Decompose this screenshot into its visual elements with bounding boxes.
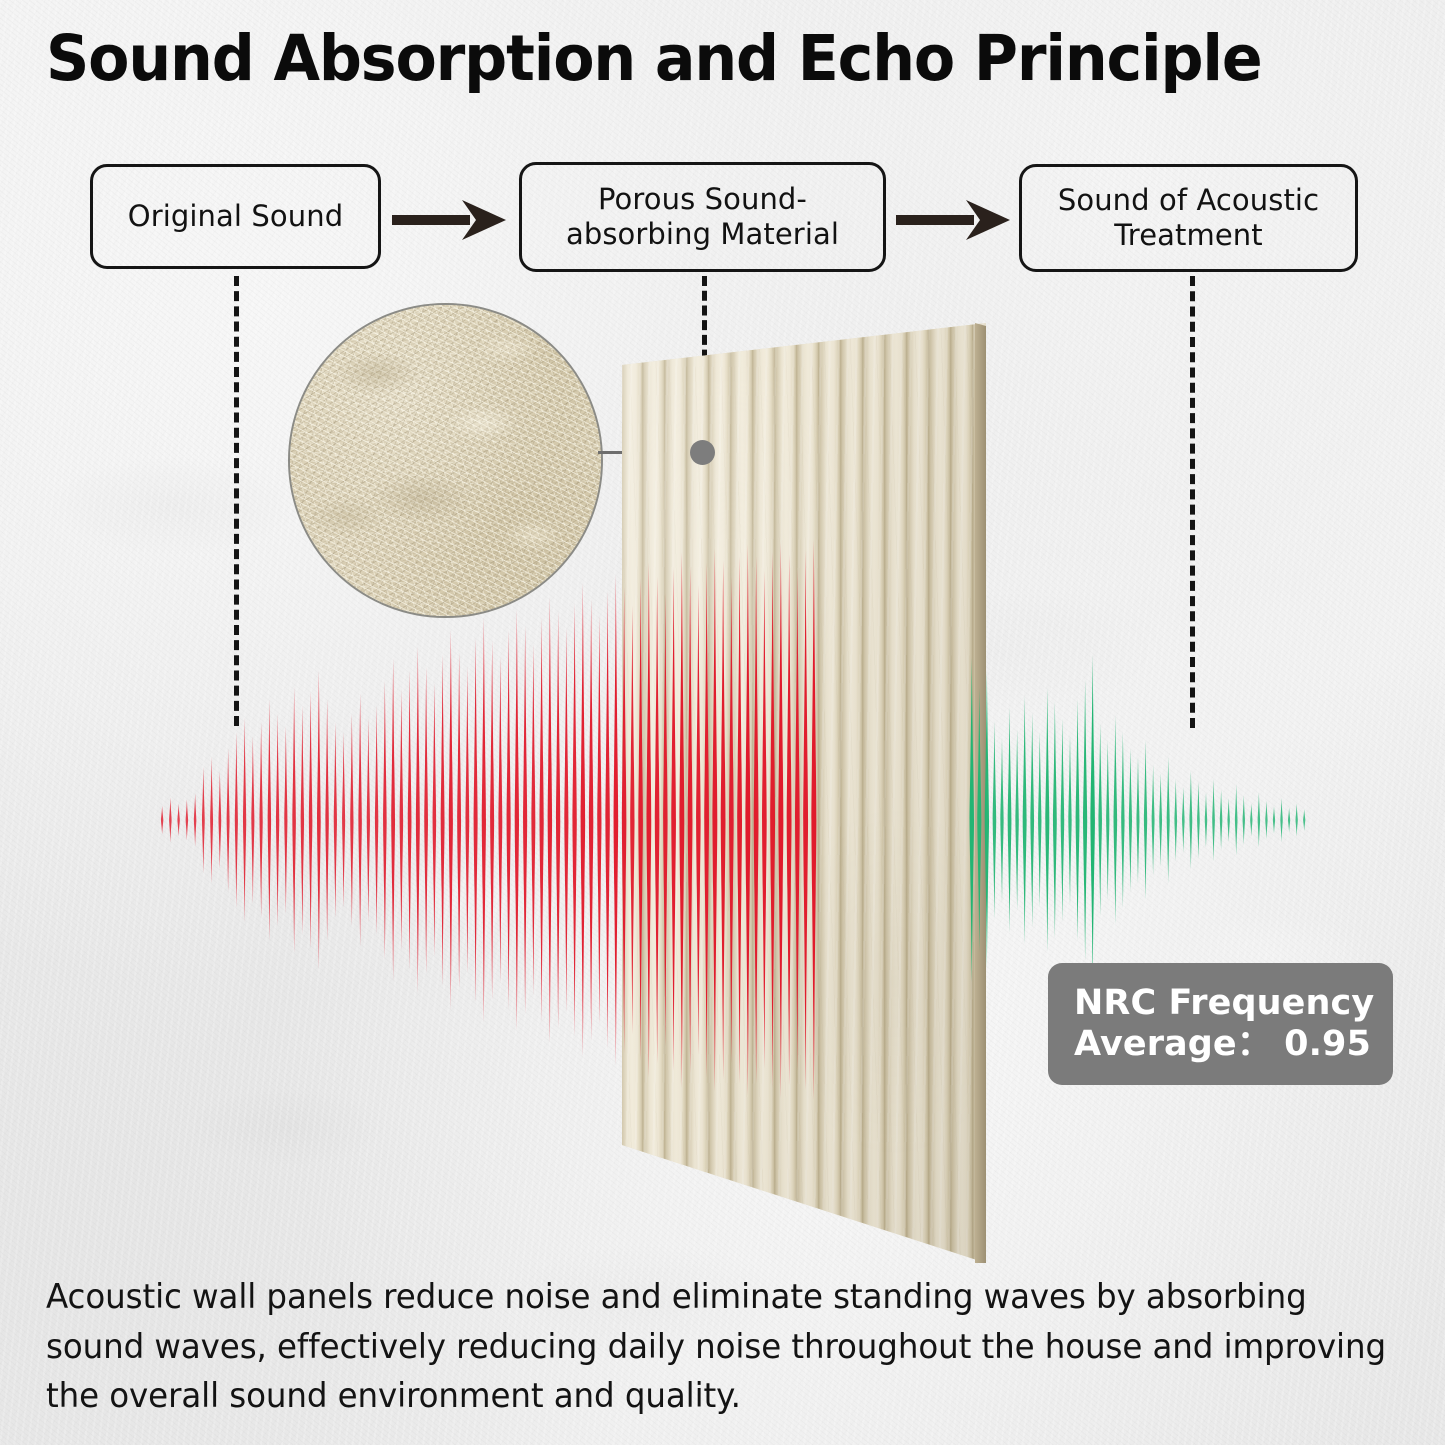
waveform-spike (663, 593, 667, 1047)
waveform-spike (219, 771, 222, 869)
flow-box-porous-material-line2: absorbing Material (566, 217, 839, 252)
waveform-spike (490, 640, 494, 1000)
waveform-spike (993, 721, 997, 919)
waveform-spike (688, 567, 693, 1074)
waveform-spike (745, 544, 750, 1096)
waveform-spike (1303, 809, 1305, 831)
waveform-spike (317, 671, 321, 969)
waveform-spike (342, 732, 345, 908)
waveform-spike (647, 562, 652, 1077)
description-paragraph: Acoustic wall panels reduce noise and el… (46, 1272, 1367, 1421)
waveform-spike (1227, 798, 1229, 842)
waveform-spike (474, 638, 478, 1002)
waveform-spike (1023, 696, 1027, 944)
waveform-spike (433, 683, 437, 957)
waveform-spike (778, 542, 783, 1098)
waveform-spike (466, 667, 470, 974)
nrc-badge-line2: Average： 0.95 (1074, 1024, 1371, 1065)
waveform-spike (1250, 804, 1252, 837)
waveform-spike (712, 548, 717, 1092)
waveform-spike (292, 687, 296, 953)
description-line-3: the overall sound environment and qualit… (46, 1371, 1367, 1421)
waveform-spike (564, 628, 568, 1012)
waveform-spike (787, 554, 792, 1085)
waveform-spike (350, 714, 353, 927)
waveform-spike (630, 605, 634, 1034)
waveform-spike (803, 550, 808, 1090)
waveform-spike (1182, 787, 1185, 853)
waveform-spike (977, 688, 981, 952)
waveform-spike (679, 552, 684, 1087)
waveform-spike (572, 603, 576, 1036)
waveform-spike (227, 748, 230, 891)
waveform-spike (1083, 680, 1087, 961)
waveform-spike (268, 699, 271, 940)
waveform-spike (424, 667, 428, 974)
waveform-spike (1008, 707, 1012, 933)
waveform-spike (202, 767, 205, 873)
waveform-spike (1090, 655, 1095, 985)
waveform-spike (276, 714, 279, 927)
waveform-spike (194, 793, 196, 846)
waveform-spike (1053, 702, 1057, 939)
waveform-spike (375, 706, 378, 935)
arrow-right-icon-2 (896, 198, 1014, 247)
waveform-spike (1220, 790, 1222, 851)
waveform-spike (1212, 779, 1215, 862)
waveform-spike (498, 656, 502, 983)
waveform-spike (1015, 729, 1018, 911)
waveform-spike (441, 654, 445, 985)
waveform-spike (638, 579, 643, 1061)
waveform-spike (301, 706, 304, 935)
waveform-acoustic-treatment (968, 655, 1308, 985)
waveform-spike (1273, 806, 1275, 834)
waveform-spike (605, 591, 609, 1049)
waveform-spike (457, 652, 461, 987)
callout-target-dot (690, 440, 715, 465)
infographic-canvas: Sound Absorption and Echo Principle Orig… (0, 0, 1445, 1445)
waveform-original-sound (158, 540, 818, 1100)
waveform-spike (589, 599, 593, 1040)
waveform-spike (704, 562, 709, 1077)
waveform-spike (671, 569, 676, 1072)
waveform-spike (770, 552, 775, 1087)
waveform-spike (400, 689, 403, 951)
waveform-spike (367, 718, 370, 922)
waveform-spike (1129, 749, 1132, 892)
waveform-spike (1045, 688, 1049, 952)
waveform-spike (696, 585, 701, 1055)
description-line-2: sound waves, effectively reducing daily … (46, 1322, 1367, 1372)
waveform-spike (235, 732, 238, 908)
waveform-spike (1030, 713, 1034, 928)
flow-box-porous-material: Porous Sound- absorbing Material (519, 162, 886, 272)
waveform-spike (1159, 773, 1162, 867)
nrc-status-badge: NRC Frequency Average： 0.95 (1048, 963, 1393, 1085)
flow-box-acoustic-treatment-line2: Treatment (1058, 218, 1319, 253)
waveform-spike (260, 722, 263, 918)
page-title: Sound Absorption and Echo Principle (46, 26, 1345, 92)
waveform-spike (548, 597, 552, 1043)
waveform-spike (358, 693, 361, 946)
waveform-spike (531, 644, 535, 996)
waveform-spike (597, 616, 601, 1025)
waveform-spike (556, 612, 560, 1029)
waveform-spike (985, 672, 989, 969)
waveform-spike (721, 560, 726, 1079)
waveform-spike (1243, 795, 1245, 845)
waveform-spike (383, 681, 387, 959)
waveform-spike (210, 757, 213, 884)
flow-box-porous-material-line1: Porous Sound- (566, 182, 839, 217)
waveform-spike (1280, 798, 1282, 842)
waveform-spike (1205, 793, 1207, 848)
flow-box-acoustic-treatment: Sound of Acoustic Treatment (1019, 164, 1358, 272)
waveform-spike (1197, 782, 1200, 859)
waveform-spike (622, 587, 626, 1053)
waveform-spike (1235, 784, 1238, 856)
waveform-spike (1288, 808, 1290, 833)
waveform-spike (1137, 757, 1140, 884)
waveform-spike (737, 556, 742, 1083)
waveform-spike (482, 618, 486, 1023)
waveform-spike (1174, 779, 1177, 862)
waveform-spike (729, 577, 734, 1063)
waveform-spike (1061, 718, 1065, 922)
waveform-spike (334, 722, 337, 918)
flow-box-original-sound: Original Sound (90, 164, 381, 269)
waveform-spike (1114, 716, 1118, 925)
waveform-spike (309, 691, 312, 949)
waveform-spike (1167, 757, 1170, 884)
waveform-spike (762, 571, 767, 1070)
waveform-spike (449, 630, 453, 1010)
waveform-spike (1076, 699, 1080, 941)
waveform-spike (523, 626, 527, 1014)
description-line-1: Acoustic wall panels reduce noise and el… (46, 1272, 1367, 1322)
waveform-spike (186, 800, 188, 841)
waveform-spike (1068, 735, 1071, 906)
waveform-spike (391, 659, 395, 982)
waveform-spike (1106, 740, 1109, 900)
waveform-spike (754, 556, 759, 1083)
waveform-spike (540, 618, 544, 1023)
flow-box-acoustic-treatment-line1: Sound of Acoustic (1058, 183, 1319, 218)
waveform-spike (1121, 732, 1124, 908)
waveform-spike (1258, 793, 1260, 848)
flow-box-original-sound-label: Original Sound (128, 199, 343, 234)
waveform-spike (581, 583, 586, 1057)
waveform-spike (970, 658, 974, 983)
waveform-spike (325, 699, 328, 940)
waveform-spike (251, 736, 254, 904)
waveform-spike (507, 630, 511, 1010)
waveform-spike (408, 671, 412, 969)
waveform-spike (177, 804, 179, 837)
waveform-spike (169, 798, 171, 843)
waveform-spike (284, 726, 287, 914)
waveform-spike (1144, 740, 1147, 900)
waveform-spike (1098, 724, 1101, 917)
waveform-spike (1038, 732, 1041, 908)
waveform-spike (161, 806, 163, 835)
waveform-spike (1265, 801, 1267, 840)
waveform-spike (655, 577, 660, 1063)
waveform-spike (1152, 765, 1155, 875)
waveform-spike (416, 646, 420, 993)
arrow-right-icon-1 (392, 198, 510, 247)
waveform-spike (1000, 738, 1003, 903)
waveform-spike (1296, 804, 1298, 837)
waveform-spike (515, 609, 519, 1030)
waveform-spike (795, 569, 800, 1072)
nrc-badge-line1: NRC Frequency (1074, 983, 1374, 1024)
waveform-spike (614, 575, 619, 1066)
waveform-spike (1189, 771, 1192, 870)
waveform-spike (811, 540, 816, 1100)
waveform-spike (243, 718, 246, 922)
